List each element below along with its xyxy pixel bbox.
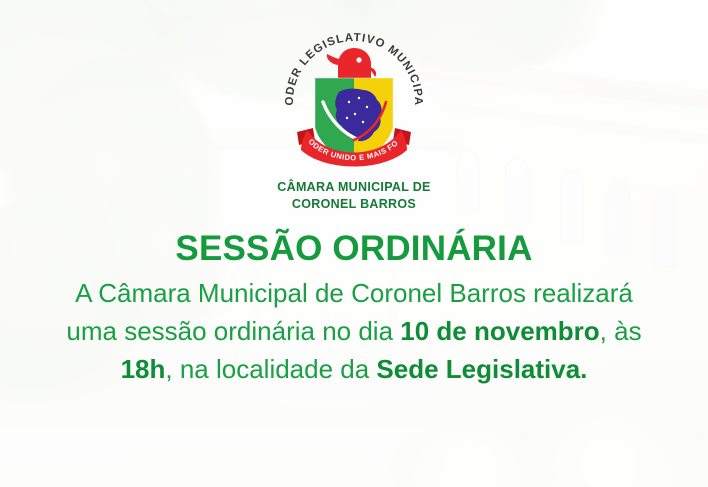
announcement-line-1: A Câmara Municipal de Coronel Barros rea…	[66, 274, 641, 312]
red-parrot-head-icon	[327, 48, 376, 82]
event-location: Sede Legislativa.	[376, 354, 587, 384]
organization-name: CÂMARA MUNICIPAL DE CORONEL BARROS	[277, 179, 430, 213]
line2-prefix: uma sessão ordinária no dia	[66, 316, 400, 346]
event-date: 10 de novembro	[400, 316, 599, 346]
page-title: SESSÃO ORDINÁRIA	[175, 230, 532, 268]
announcement-line-2: uma sessão ordinária no dia 10 de novemb…	[66, 312, 641, 350]
organization-line-2: CORONEL BARROS	[277, 196, 430, 213]
announcement-line-3: 18h, na localidade da Sede Legislativa.	[66, 350, 641, 388]
coat-of-arms-icon: PODER LEGISLATIVO MUNICIPAL	[279, 10, 429, 175]
poster-content: PODER LEGISLATIVO MUNICIPAL	[0, 0, 708, 487]
organization-line-1: CÂMARA MUNICIPAL DE	[277, 179, 430, 196]
event-time: 18h	[121, 354, 166, 384]
announcement-body: A Câmara Municipal de Coronel Barros rea…	[66, 274, 641, 388]
line2-suffix: , às	[600, 316, 642, 346]
announcement-poster: CORONEL BARROS 1992 PODER LEGISLATIVO MU…	[0, 0, 708, 487]
line3-middle: , na localidade da	[165, 354, 376, 384]
